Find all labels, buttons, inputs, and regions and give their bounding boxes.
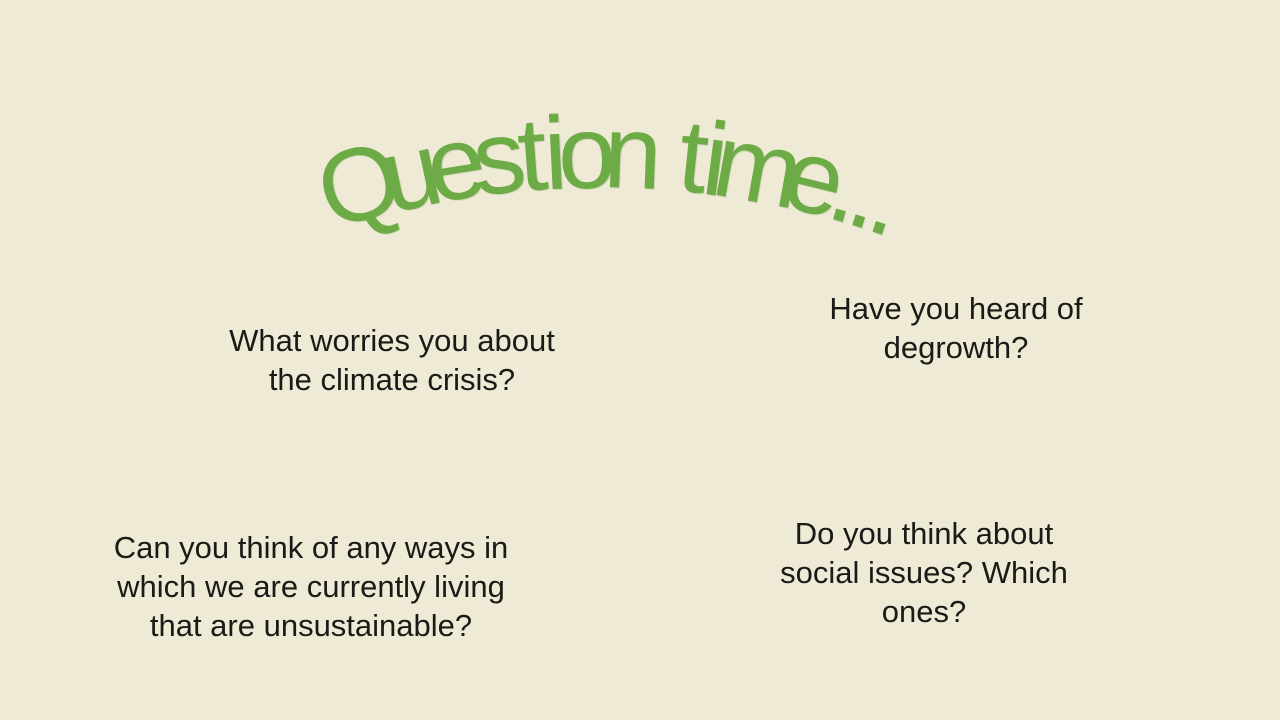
- title-arc-text: Question time...: [0, 0, 1280, 250]
- question-block-climate: What worries you about the climate crisi…: [186, 322, 598, 400]
- title-char: n: [602, 100, 664, 206]
- question-block-degrowth: Have you heard of degrowth?: [790, 290, 1122, 368]
- question-line: the climate crisis?: [186, 361, 598, 400]
- question-line: Can you think of any ways in: [82, 529, 540, 568]
- title-char: e: [774, 121, 855, 236]
- question-line: What worries you about: [186, 322, 598, 361]
- title-char: e: [419, 108, 493, 220]
- question-line: Do you think about: [756, 515, 1092, 554]
- title-char: i: [541, 101, 569, 206]
- question-line: Have you heard of: [790, 290, 1122, 329]
- title-char: u: [372, 116, 450, 230]
- title-char: [650, 102, 687, 208]
- slide-canvas: Question time... What worries you about …: [0, 0, 1280, 720]
- question-line: social issues? Which: [756, 554, 1092, 593]
- title-char: .: [819, 133, 875, 241]
- title-char: .: [839, 139, 898, 247]
- title-char: .: [858, 146, 919, 254]
- title-char: t: [514, 102, 551, 208]
- title-char: o: [557, 100, 616, 205]
- question-block-social: Do you think about social issues? Which …: [756, 515, 1092, 631]
- title-char: Q: [307, 124, 413, 246]
- question-line: degrowth?: [790, 329, 1122, 368]
- title-char: s: [467, 104, 530, 213]
- title-char: i: [698, 107, 734, 213]
- question-line: which we are currently living: [82, 568, 540, 607]
- question-line: ones?: [756, 593, 1092, 632]
- slide-title: Question time...: [0, 0, 1280, 250]
- title-char: m: [707, 108, 811, 226]
- question-line: that are unsustainable?: [82, 607, 540, 646]
- question-block-unsustainable: Can you think of any ways in which we ar…: [82, 529, 540, 645]
- title-char: t: [674, 104, 714, 210]
